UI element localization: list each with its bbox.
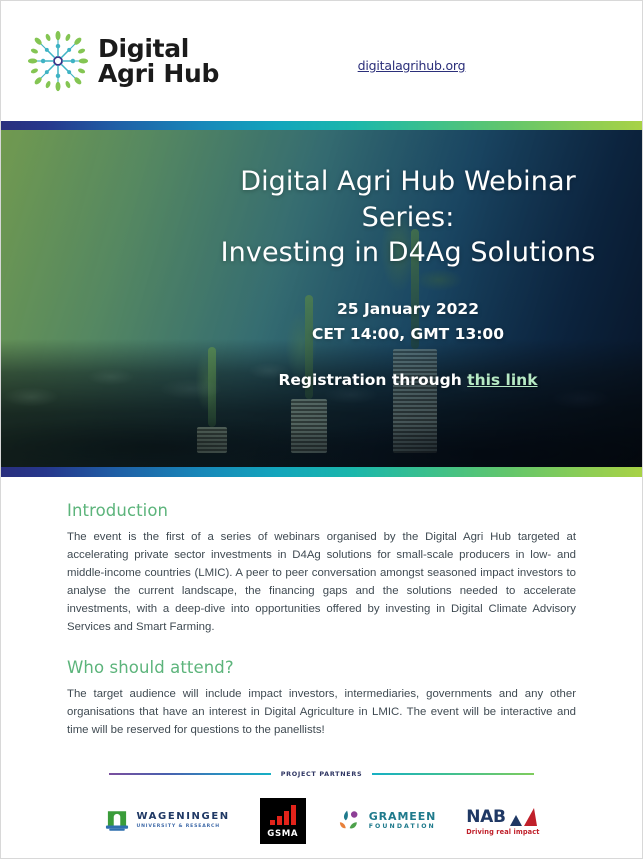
naba-subtitle: Driving real impact [466,829,539,836]
wageningen-text: WAGENINGEN UNIVERSITY & RESEARCH [137,812,230,829]
partners-label: PROJECT PARTNERS [281,770,363,778]
section-heading-who-should-attend: Who should attend? [67,658,576,677]
naba-name: NAB [466,809,505,826]
naba-name-row: NAB [466,807,539,826]
gsma-bars-icon [270,805,296,825]
grameen-text: GRAMEEN FOUNDATION [369,811,437,831]
flyer-page: Digital Agri Hub digitalagrihub.org Dig [0,0,643,859]
divider-line-right [372,773,534,775]
website-link[interactable]: digitalagrihub.org [358,58,466,73]
section-heading-introduction: Introduction [67,501,576,520]
gsma-badge: GSMA [260,798,306,844]
partners-divider: PROJECT PARTNERS [1,770,642,778]
registration-link[interactable]: this link [467,371,537,389]
grameen-petals-icon [336,808,362,834]
partner-logo-naba[interactable]: NAB Driving real impact [466,807,539,836]
gsma-name: GSMA [267,829,298,839]
content-body: Introduction The event is the first of a… [1,477,642,739]
page-header: Digital Agri Hub digitalagrihub.org [1,1,642,121]
grameen-name: GRAMEEN [369,811,437,823]
page-footer: PROJECT PARTNERS WAGENINGEN UNIVERSITY &… [1,770,642,858]
hero-title: Digital Agri Hub Webinar Series: Investi… [198,164,618,271]
partner-logo-gsma[interactable]: GSMA [260,798,306,844]
wageningen-arch-icon [104,808,130,834]
gradient-bar-top [1,121,642,130]
partner-logo-grameen[interactable]: GRAMEEN FOUNDATION [336,808,437,834]
registration-prefix: Registration through [278,371,467,389]
naba-text: NAB Driving real impact [466,807,539,836]
hero-title-line-2: Series: [198,200,618,236]
gradient-bar-bottom [1,467,642,477]
header-link-container: digitalagrihub.org [1,57,642,75]
naba-arrow-icon [507,807,537,826]
wageningen-subtitle: UNIVERSITY & RESEARCH [137,825,230,830]
hero-event-meta: 25 January 2022 CET 14:00, GMT 13:00 [198,297,618,347]
grameen-subtitle: FOUNDATION [369,824,437,831]
section-spacer [67,636,576,658]
partner-logo-wageningen[interactable]: WAGENINGEN UNIVERSITY & RESEARCH [104,808,230,834]
divider-line-left [109,773,271,775]
event-time: CET 14:00, GMT 13:00 [198,322,618,347]
hero-title-line-1: Digital Agri Hub Webinar [198,164,618,200]
section-body-introduction: The event is the first of a series of we… [67,528,576,636]
event-date: 25 January 2022 [198,297,618,322]
hero-banner: Digital Agri Hub Webinar Series: Investi… [1,130,642,467]
hero-content: Digital Agri Hub Webinar Series: Investi… [1,130,642,467]
hero-title-line-3: Investing in D4Ag Solutions [198,235,618,271]
section-body-who-should-attend: The target audience will include impact … [67,685,576,739]
partner-logos-row: WAGENINGEN UNIVERSITY & RESEARCH GSMA [1,798,642,844]
hero-registration: Registration through this link [198,371,618,389]
wageningen-name: WAGENINGEN [137,812,230,823]
